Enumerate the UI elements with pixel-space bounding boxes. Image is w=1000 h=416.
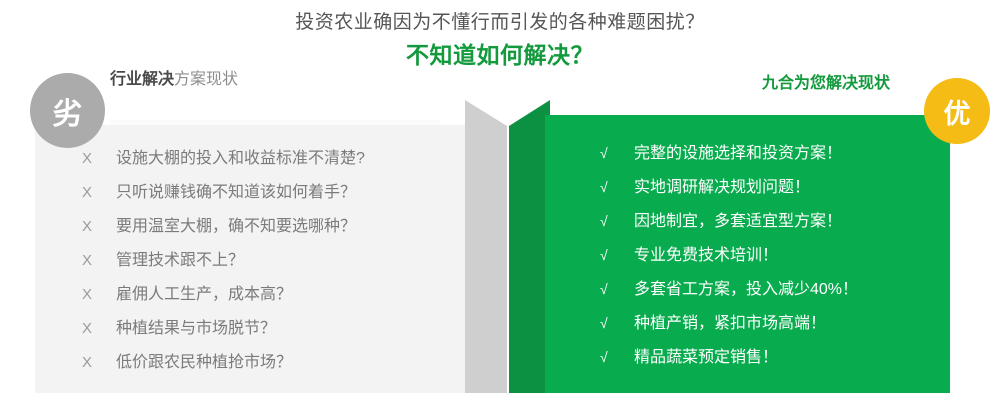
check-icon: √ xyxy=(600,204,634,238)
list-item: √ 种植产销，紧扣市场高端！ xyxy=(600,306,950,340)
fold-gray-face xyxy=(465,100,507,393)
check-icon: √ xyxy=(600,238,634,272)
list-item: X 要用温室大棚，确不知要选哪种？ xyxy=(82,210,462,244)
list-item: √ 专业免费技术培训！ xyxy=(600,238,950,272)
check-icon: √ xyxy=(600,306,634,340)
list-item-label: 多套省工方案，投入减少40%！ xyxy=(634,273,858,307)
list-item-label: 雇佣人工生产，成本高？ xyxy=(116,278,292,312)
good-badge: 优 xyxy=(924,78,990,144)
list-item: √ 实地调研解决规划问题！ xyxy=(600,170,950,204)
list-item: X 低价跟农民种植抢市场？ xyxy=(82,346,462,380)
list-item-label: 只听说赚钱确不知道该如何着手？ xyxy=(116,176,356,210)
list-item-label: 完整的设施选择和投资方案！ xyxy=(634,137,842,171)
list-item-label: 要用温室大棚，确不知要选哪种？ xyxy=(116,210,356,244)
bad-badge-label: 劣 xyxy=(53,89,83,133)
list-item: X 种植结果与市场脱节？ xyxy=(82,312,462,346)
list-item-label: 专业免费技术培训！ xyxy=(634,239,778,273)
headline-line-1: 投资农业确因为不懂行而引发的各种难题困扰？ xyxy=(0,0,1000,37)
problems-list: X 设施大棚的投入和收益标准不清楚? X 只听说赚钱确不知道该如何着手？ X 要… xyxy=(82,142,462,380)
cross-icon: X xyxy=(82,142,116,176)
cross-icon: X xyxy=(82,244,116,278)
check-icon: √ xyxy=(600,136,634,170)
check-icon: √ xyxy=(600,340,634,374)
list-item: X 设施大棚的投入和收益标准不清楚? xyxy=(82,142,462,176)
solutions-list: √ 完整的设施选择和投资方案！ √ 实地调研解决规划问题！ √ 因地制宜，多套适… xyxy=(600,136,950,374)
fold-green-face xyxy=(505,100,550,393)
list-item: X 管理技术跟不上？ xyxy=(82,244,462,278)
list-item-label: 低价跟农民种植抢市场？ xyxy=(116,346,292,380)
good-badge-label: 优 xyxy=(944,92,971,131)
cross-icon: X xyxy=(82,278,116,312)
list-item: √ 多套省工方案，投入减少40%！ xyxy=(600,272,950,306)
list-item-label: 种植产销，紧扣市场高端！ xyxy=(634,307,826,341)
list-item-label: 因地制宜，多套适宜型方案！ xyxy=(634,205,842,239)
cross-icon: X xyxy=(82,176,116,210)
center-fold-ribbon xyxy=(465,100,550,393)
check-icon: √ xyxy=(600,272,634,306)
list-item: √ 因地制宜，多套适宜型方案！ xyxy=(600,204,950,238)
list-item-label: 实地调研解决规划问题！ xyxy=(634,171,810,205)
headline-line-2: 不知道如何解决？ xyxy=(0,37,1000,71)
list-item-label: 种植结果与市场脱节？ xyxy=(116,312,276,346)
check-icon: √ xyxy=(600,170,634,204)
list-item: √ 精品蔬菜预定销售！ xyxy=(600,340,950,374)
list-item-label: 管理技术跟不上？ xyxy=(116,244,244,278)
headline-block: 投资农业确因为不懂行而引发的各种难题困扰？ 不知道如何解决？ xyxy=(0,0,1000,71)
left-section-heading: 行业解决方案现状 xyxy=(110,68,238,92)
list-item-label: 精品蔬菜预定销售！ xyxy=(634,341,778,375)
right-section-heading: 九合为您解决现状 xyxy=(762,72,890,96)
list-item: √ 完整的设施选择和投资方案！ xyxy=(600,136,950,170)
left-heading-strong: 行业解决 xyxy=(110,71,174,88)
list-item: X 雇佣人工生产，成本高？ xyxy=(82,278,462,312)
left-heading-light: 方案现状 xyxy=(174,71,238,88)
list-item: X 只听说赚钱确不知道该如何着手？ xyxy=(82,176,462,210)
cross-icon: X xyxy=(82,312,116,346)
list-item-label: 设施大棚的投入和收益标准不清楚? xyxy=(116,142,365,176)
cross-icon: X xyxy=(82,346,116,380)
bad-badge: 劣 xyxy=(30,73,105,148)
cross-icon: X xyxy=(82,210,116,244)
